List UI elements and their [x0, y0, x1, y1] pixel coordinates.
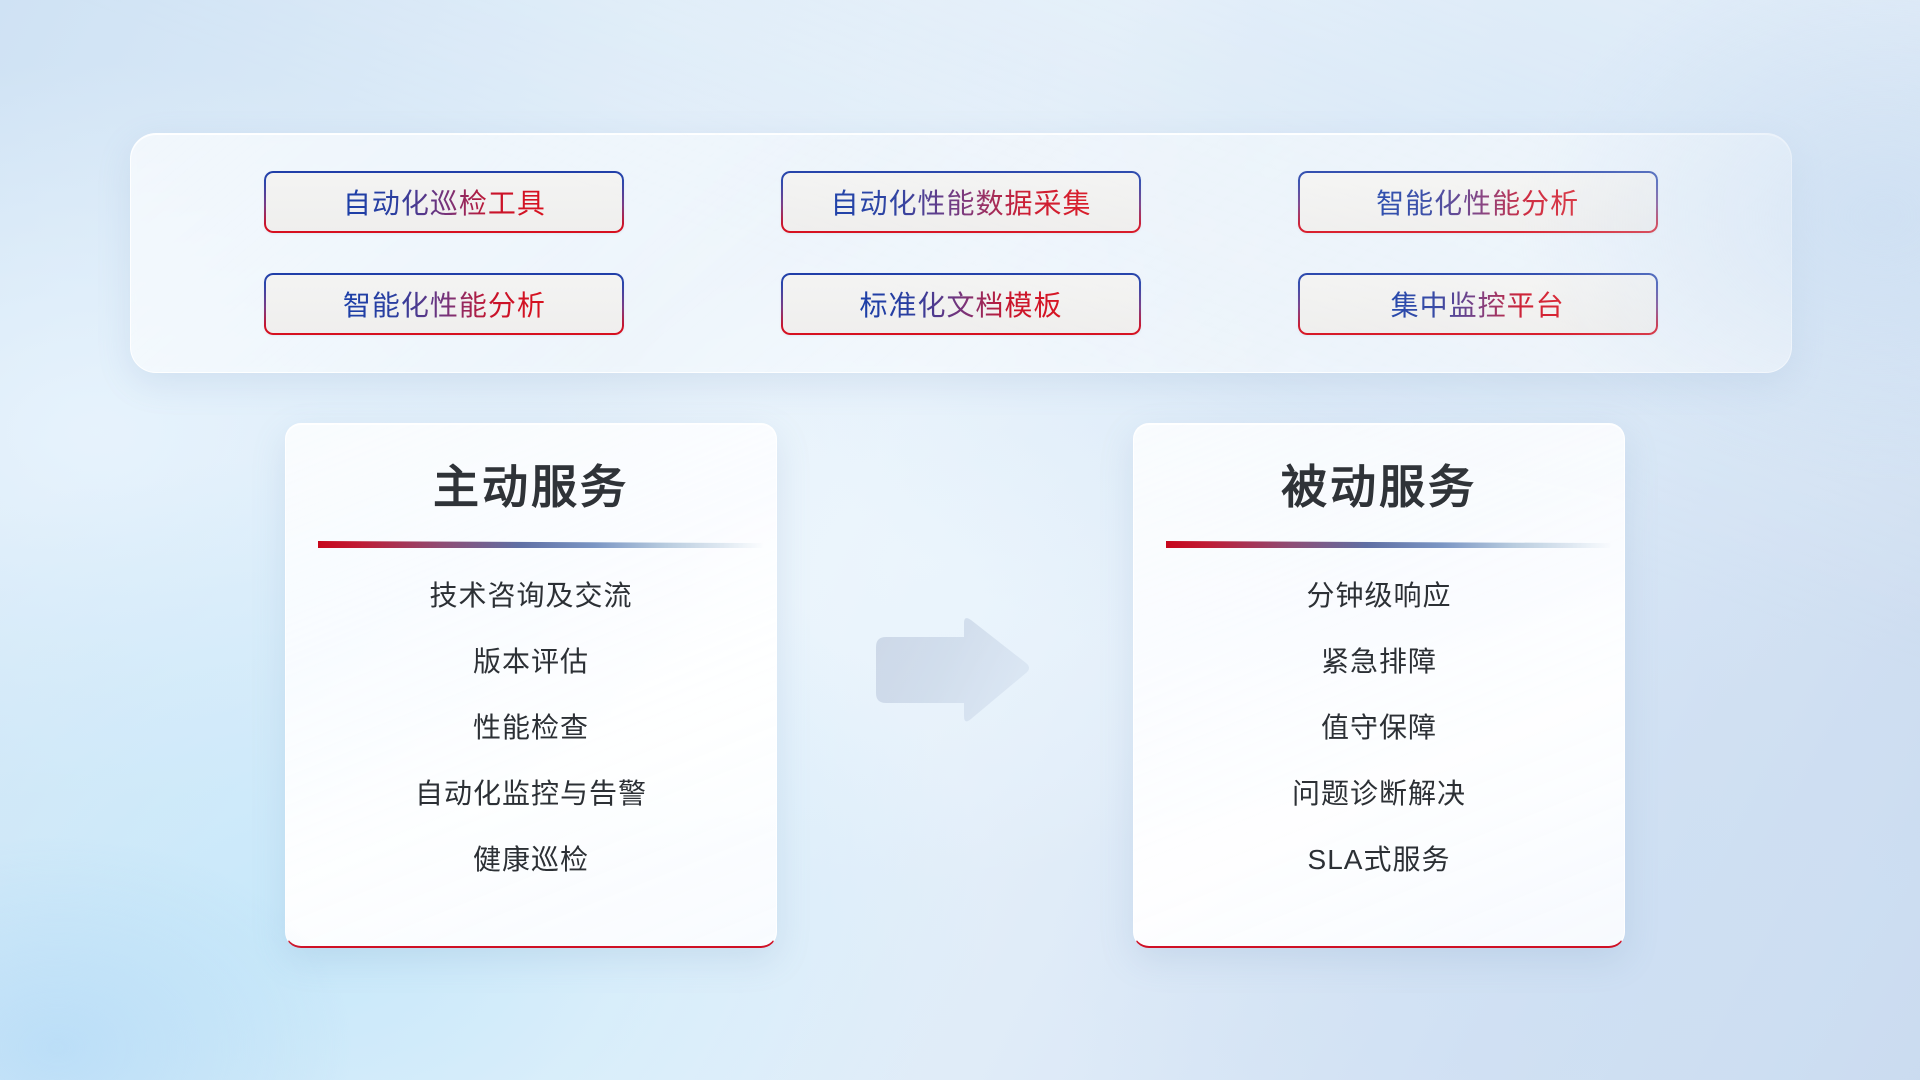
list-item: 值守保障: [1321, 706, 1437, 750]
card-title: 主动服务: [433, 451, 629, 517]
capability-chip[interactable]: 智能化性能分析: [1298, 171, 1658, 233]
service-card-reactive[interactable]: 被动服务 分钟级响应 紧急排障 值守保障 问题诊断解决 SLA式服务: [1133, 423, 1625, 948]
capability-chip-label: 自动化巡检工具: [343, 182, 546, 222]
card-title: 被动服务: [1281, 451, 1477, 517]
card-service-list: 分钟级响应 紧急排障 值守保障 问题诊断解决 SLA式服务: [1134, 574, 1624, 882]
capability-chip-label: 标准化文档模板: [859, 284, 1062, 324]
list-item: SLA式服务: [1308, 838, 1451, 882]
capability-chip[interactable]: 集中监控平台: [1298, 273, 1658, 335]
right-arrow-icon: [872, 615, 1032, 727]
capability-chip[interactable]: 自动化巡检工具: [264, 171, 624, 233]
list-item: 分钟级响应: [1306, 574, 1451, 618]
card-header: 主动服务: [286, 424, 776, 544]
capability-chip-label: 智能化性能分析: [1376, 182, 1579, 222]
list-item: 紧急排障: [1321, 640, 1437, 684]
capability-panel: 自动化巡检工具 自动化性能数据采集 智能化性能分析 智能化性能分析 标准化文档模…: [130, 133, 1792, 373]
list-item: 健康巡检: [473, 838, 589, 882]
capability-chip[interactable]: 自动化性能数据采集: [781, 171, 1141, 233]
card-service-list: 技术咨询及交流 版本评估 性能检查 自动化监控与告警 健康巡检: [286, 574, 776, 882]
capability-chip-label: 智能化性能分析: [343, 284, 546, 324]
slide-canvas: 自动化巡检工具 自动化性能数据采集 智能化性能分析 智能化性能分析 标准化文档模…: [0, 0, 1920, 1080]
list-item: 问题诊断解决: [1292, 772, 1466, 816]
capability-chip[interactable]: 标准化文档模板: [781, 273, 1141, 335]
capability-chip[interactable]: 智能化性能分析: [264, 273, 624, 335]
service-card-proactive[interactable]: 主动服务 技术咨询及交流 版本评估 性能检查 自动化监控与告警 健康巡检: [285, 423, 777, 948]
capability-chip-label: 自动化性能数据采集: [830, 182, 1091, 222]
list-item: 自动化监控与告警: [415, 772, 647, 816]
list-item: 版本评估: [473, 640, 589, 684]
list-item: 技术咨询及交流: [429, 574, 632, 618]
capability-chip-grid: 自动化巡检工具 自动化性能数据采集 智能化性能分析 智能化性能分析 标准化文档模…: [131, 134, 1791, 372]
list-item: 性能检查: [473, 706, 589, 750]
card-header: 被动服务: [1134, 424, 1624, 544]
capability-chip-label: 集中监控平台: [1391, 284, 1565, 324]
